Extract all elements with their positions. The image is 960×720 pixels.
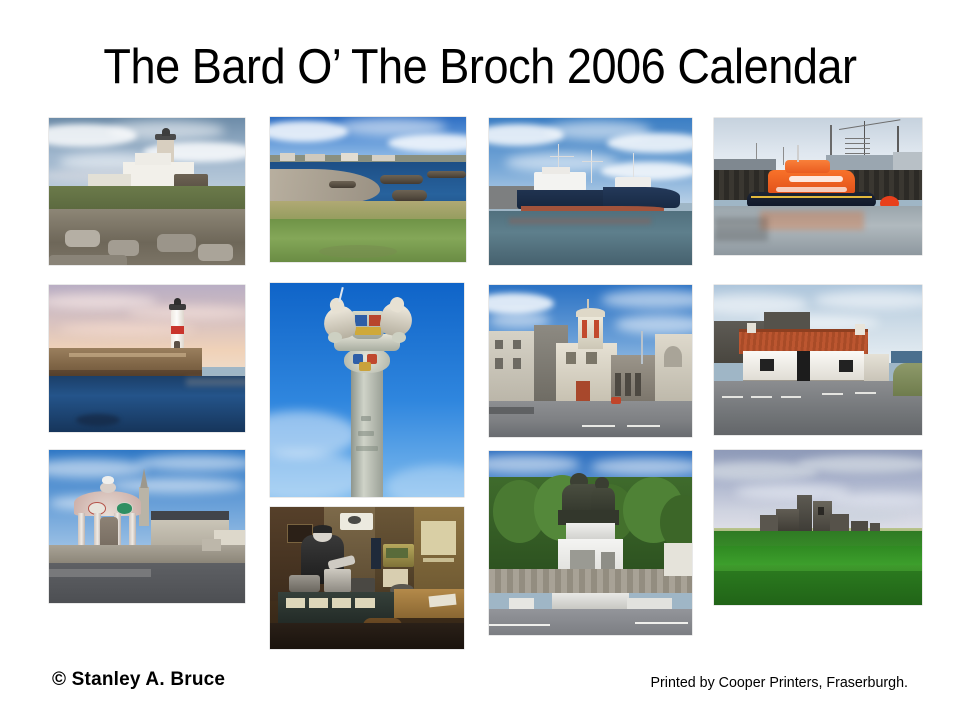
photo-rocky-coastline[interactable] bbox=[270, 117, 466, 262]
photo-castle-ruins[interactable] bbox=[714, 450, 922, 605]
photo-mercat-cross[interactable] bbox=[270, 283, 464, 497]
copyright-notice: © Stanley A. Bruce bbox=[52, 669, 225, 691]
photo-war-memorial[interactable] bbox=[489, 451, 692, 635]
photo-fountain[interactable] bbox=[49, 450, 245, 603]
photo-telegraph-museum[interactable] bbox=[270, 507, 464, 649]
page-title: The Bard O’ The Broch 2006 Calendar bbox=[38, 38, 921, 96]
photo-lifeboat[interactable] bbox=[714, 118, 922, 255]
photo-pier-lighthouse[interactable] bbox=[49, 285, 245, 432]
photo-red-roof-cottage[interactable] bbox=[714, 285, 922, 435]
printer-credit: Printed by Cooper Printers, Fraserburgh. bbox=[651, 674, 908, 691]
photo-lighthouse-castle[interactable] bbox=[49, 118, 245, 265]
photo-fishing-trawlers[interactable] bbox=[489, 118, 692, 265]
calendar-poster: The Bard O’ The Broch 2006 Calendar bbox=[0, 0, 960, 720]
photo-town-hall[interactable] bbox=[489, 285, 692, 437]
